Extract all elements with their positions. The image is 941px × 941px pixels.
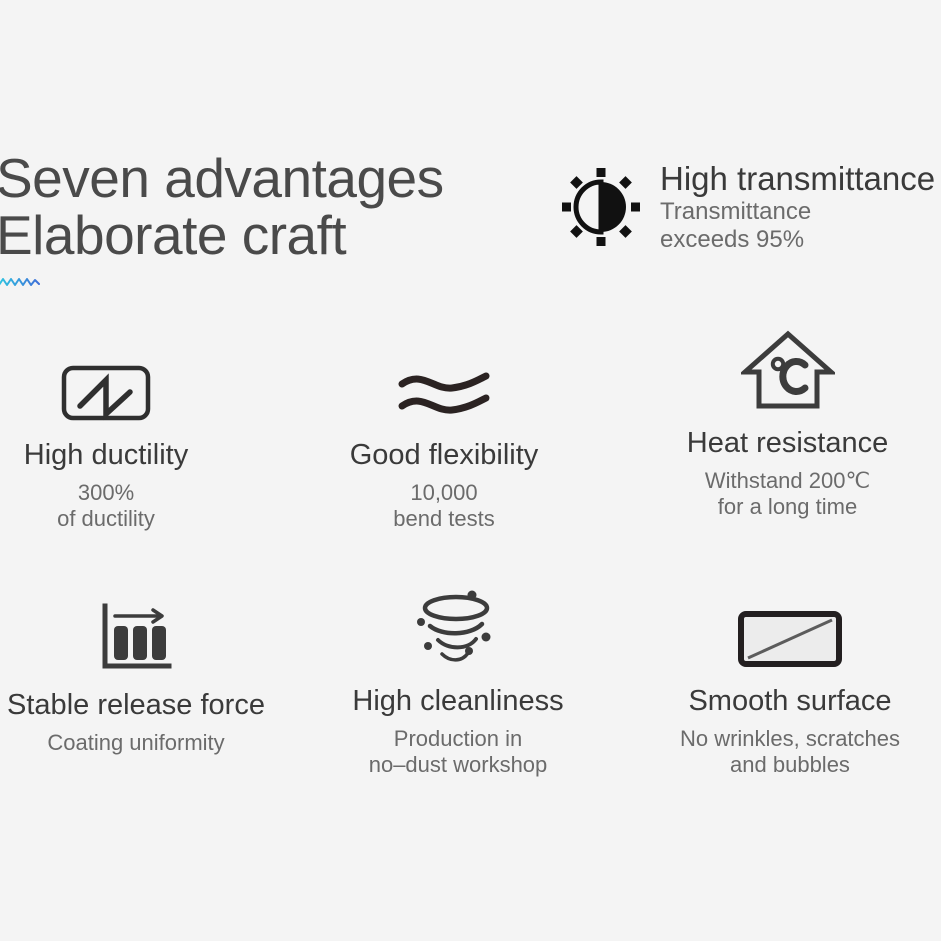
- feature-heat-resistance: Heat resistance Withstand 200℃ for a lon…: [672, 340, 903, 520]
- icon-container: [330, 352, 558, 424]
- feature-subtitle-line-2: bend tests: [330, 506, 558, 532]
- icon-container: [660, 598, 920, 670]
- wave-accent-icon: [0, 276, 44, 290]
- feature-title: Good flexibility: [330, 438, 558, 472]
- bar-chart-arrow-icon: [97, 602, 175, 674]
- feature-subtitle-line-2: no–dust workshop: [338, 752, 578, 778]
- feature-stable-release-force: Stable release force Coating uniformity: [0, 602, 286, 756]
- icon-container: [0, 352, 220, 424]
- icon-container: [560, 166, 642, 248]
- feature-good-flexibility: Good flexibility 10,000 bend tests: [330, 352, 558, 532]
- feature-title: High cleanliness: [338, 684, 578, 718]
- icon-container: [672, 340, 903, 412]
- house-celsius-icon: [741, 328, 835, 412]
- feature-title: High ductility: [0, 438, 220, 472]
- feature-subtitle-line-1: Production in: [338, 726, 578, 752]
- feature-high-transmittance: High transmittance Transmittance exceeds…: [560, 160, 935, 254]
- page-title-line-1: Seven advantages: [0, 150, 516, 207]
- feature-smooth-surface: Smooth surface No wrinkles, scratches an…: [660, 598, 920, 778]
- page-title-line-2: Elaborate craft: [0, 207, 516, 264]
- feature-title: Smooth surface: [660, 684, 920, 718]
- feature-subtitle-line-2: for a long time: [672, 494, 903, 520]
- stretch-rect-icon: [60, 362, 152, 424]
- feature-subtitle-line-1: No wrinkles, scratches: [660, 726, 920, 752]
- feature-title: Stable release force: [0, 688, 286, 722]
- feature-subtitle-line-1: Transmittance: [660, 198, 935, 226]
- feature-subtitle-line-1: 300%: [0, 480, 220, 506]
- feature-subtitle-line-1: Withstand 200℃: [672, 468, 903, 494]
- feature-text-block: High transmittance Transmittance exceeds…: [660, 160, 935, 254]
- rectangle-diagonal-icon: [736, 608, 844, 670]
- feature-high-cleanliness: High cleanliness Production in no–dust w…: [338, 598, 578, 778]
- feature-high-ductility: High ductility 300% of ductility: [0, 352, 220, 532]
- feature-subtitle-line-2: of ductility: [0, 506, 220, 532]
- dust-swirl-icon: [410, 590, 506, 670]
- feature-subtitle-line-1: 10,000: [330, 480, 558, 506]
- feature-subtitle-line-2: exceeds 95%: [660, 226, 935, 254]
- page-title: Seven advantages Elaborate craft: [0, 150, 516, 290]
- brightness-icon: [560, 166, 642, 248]
- feature-title: Heat resistance: [672, 426, 903, 460]
- wave-lines-icon: [394, 366, 494, 424]
- icon-container: [0, 602, 286, 674]
- icon-container: [338, 598, 578, 670]
- feature-subtitle-line-1: Coating uniformity: [0, 730, 286, 756]
- feature-subtitle-line-2: and bubbles: [660, 752, 920, 778]
- feature-title: High transmittance: [660, 160, 935, 198]
